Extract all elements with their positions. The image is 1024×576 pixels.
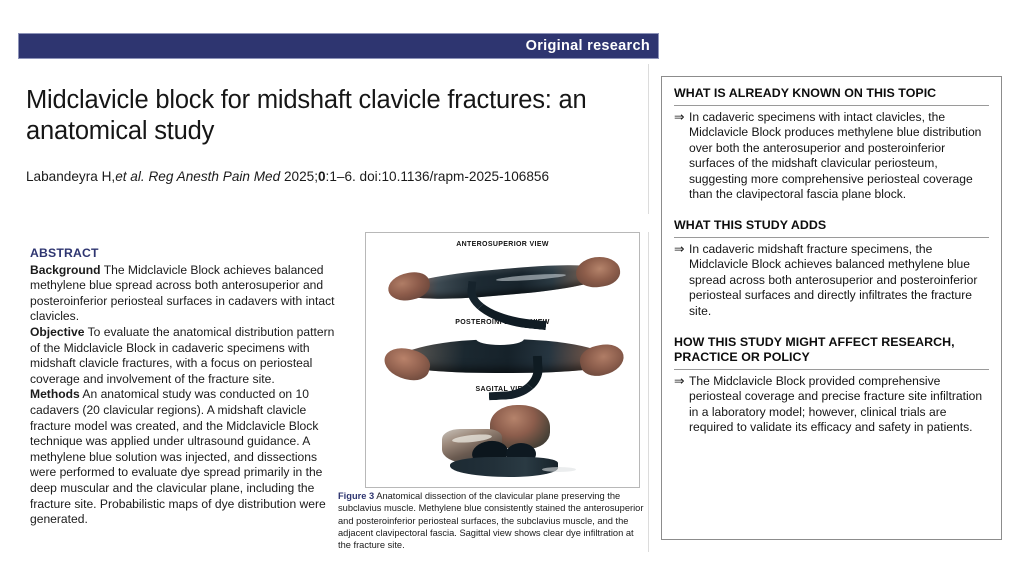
column-divider (648, 232, 649, 552)
specimen-posteroinferior (384, 333, 624, 385)
info-bullet-adds: ⇒ In cadaveric midshaft fracture specime… (674, 242, 989, 320)
figure-caption: Figure 3 Anatomical dissection of the cl… (338, 490, 644, 551)
info-section-title-impact: HOW THIS STUDY MIGHT AFFECT RESEARCH, PR… (674, 335, 989, 366)
column-divider-top (648, 64, 649, 214)
abstract-lead-methods: Methods (30, 387, 80, 401)
citation-line: Labandeyra H,et al. Reg Anesth Pain Med … (26, 168, 646, 186)
key-messages-box: WHAT IS ALREADY KNOWN ON THIS TOPIC ⇒ In… (661, 76, 1002, 540)
section-divider (674, 105, 989, 106)
section-divider (674, 369, 989, 370)
banner-label: Original research (526, 38, 658, 54)
info-bullet-text-adds: In cadaveric midshaft fracture specimens… (689, 242, 989, 320)
info-section-adds: WHAT THIS STUDY ADDS ⇒ In cadaveric mids… (674, 218, 989, 319)
info-section-title-known: WHAT IS ALREADY KNOWN ON THIS TOPIC (674, 86, 989, 102)
stained-tissue-strand (487, 356, 544, 401)
figure-caption-text: Anatomical dissection of the clavicular … (338, 491, 643, 550)
abstract-text-methods: An anatomical study was conducted on 10 … (30, 387, 326, 526)
info-bullet-impact: ⇒ The Midclavicle Block provided compreh… (674, 374, 989, 436)
abstract-lead-objective: Objective (30, 325, 84, 339)
spacer (674, 322, 989, 335)
figure-panel-label-anterosuperior: ANTEROSUPERIOR VIEW (366, 241, 639, 248)
abstract-heading: ABSTRACT (30, 246, 342, 262)
info-bullet-text-known: In cadaveric specimens with intact clavi… (689, 110, 989, 204)
info-bullet-known: ⇒ In cadaveric specimens with intact cla… (674, 110, 989, 204)
double-arrow-icon: ⇒ (674, 110, 689, 126)
info-bullet-text-impact: The Midclavicle Block provided comprehen… (689, 374, 989, 436)
figure-caption-number: Figure 3 (338, 491, 374, 501)
page-title: Midclavicle block for midshaft clavicle … (26, 85, 640, 147)
info-section-impact: HOW THIS STUDY MIGHT AFFECT RESEARCH, PR… (674, 335, 989, 436)
specimen-sagital (438, 405, 588, 477)
abstract-paragraph-background: Background The Midclavicle Block achieve… (30, 263, 342, 325)
original-research-banner: Original research (18, 33, 659, 59)
citation-pages-doi: :1–6. doi:10.1136/rapm-2025-106856 (326, 169, 549, 184)
citation-journal: . Reg Anesth Pain Med (141, 169, 280, 184)
double-arrow-icon: ⇒ (674, 374, 689, 390)
fracture-notch (476, 333, 524, 345)
abstract-lead-background: Background (30, 263, 101, 277)
figure-3-image: ANTEROSUPERIOR VIEW POSTEROINFERIOR VIEW… (365, 232, 640, 488)
abstract-column: ABSTRACT Background The Midclavicle Bloc… (30, 246, 342, 528)
specimen-anterosuperior (388, 255, 620, 313)
spacer (674, 205, 989, 218)
abstract-paragraph-objective: Objective To evaluate the anatomical dis… (30, 325, 342, 387)
citation-volume: 0 (318, 169, 326, 184)
section-divider (674, 237, 989, 238)
citation-year: 2025; (280, 169, 318, 184)
specular-highlight-2 (542, 467, 576, 472)
info-section-title-adds: WHAT THIS STUDY ADDS (674, 218, 989, 234)
abstract-paragraph-methods: Methods An anatomical study was conducte… (30, 387, 342, 527)
citation-etal: et al (115, 169, 141, 184)
info-section-known: WHAT IS ALREADY KNOWN ON THIS TOPIC ⇒ In… (674, 86, 989, 203)
citation-authors: Labandeyra H, (26, 169, 115, 184)
double-arrow-icon: ⇒ (674, 242, 689, 258)
